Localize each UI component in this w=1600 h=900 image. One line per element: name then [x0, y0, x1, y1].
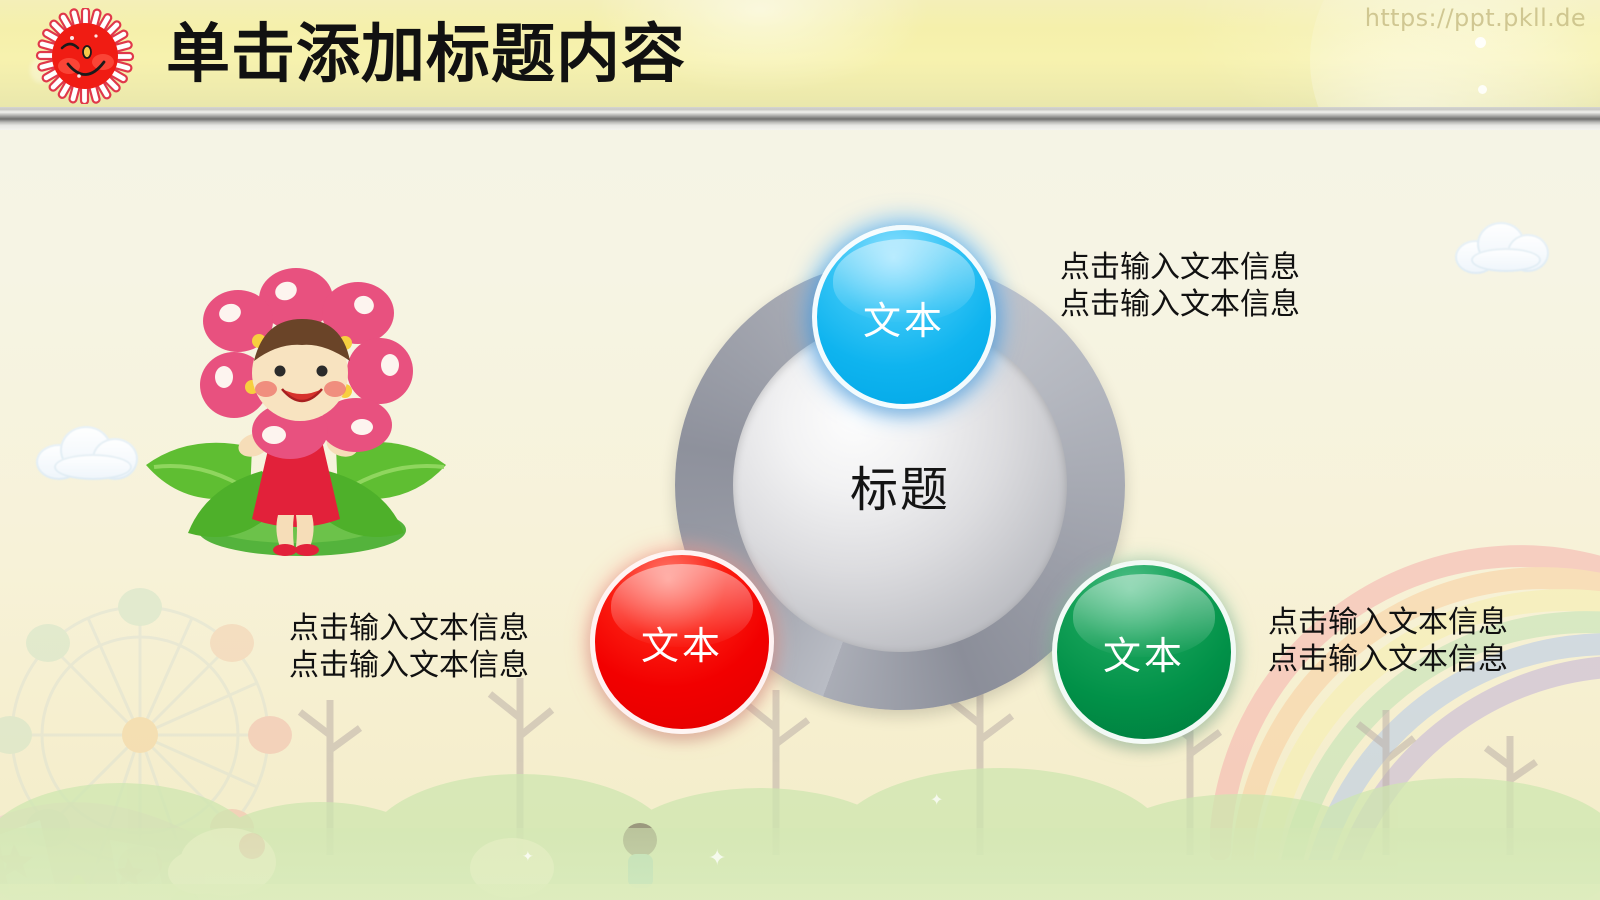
- caption-right-line-2: 点击输入文本信息: [1268, 641, 1508, 678]
- slide-canvas: ✦ ✦ ✦: [0, 0, 1600, 900]
- diagram-center-label: 标题: [733, 450, 1067, 520]
- header-divider: [0, 107, 1600, 130]
- diagram-node-left[interactable]: 文本: [590, 550, 774, 734]
- header-dot-icon: [1475, 37, 1486, 48]
- diagram-node-top[interactable]: 文本: [812, 225, 996, 409]
- sparkle-icon: ✦: [708, 845, 726, 871]
- node-right-label: 文本: [1103, 625, 1185, 680]
- caption-right-line-1: 点击输入文本信息: [1268, 604, 1508, 641]
- caption-top-line-2: 点击输入文本信息: [1060, 286, 1300, 323]
- page-title: 单击添加标题内容: [166, 20, 686, 90]
- slide-header: 单击添加标题内容 https://ppt.pkll.de: [0, 0, 1600, 107]
- caption-left-line-1: 点击输入文本信息: [289, 610, 529, 647]
- diagram-node-right[interactable]: 文本: [1052, 560, 1236, 744]
- cloud-left: [36, 420, 146, 482]
- caption-left[interactable]: 点击输入文本信息 点击输入文本信息: [289, 610, 529, 684]
- header-dot-icon: [1478, 85, 1487, 94]
- flower-girl-illustration: [140, 265, 460, 560]
- caption-left-line-2: 点击输入文本信息: [289, 647, 529, 684]
- sparkle-icon: ✦: [930, 790, 943, 810]
- smiling-sun-icon: [24, 8, 146, 104]
- node-top-label: 文本: [863, 290, 945, 345]
- cloud-right: [1455, 218, 1553, 276]
- caption-right[interactable]: 点击输入文本信息 点击输入文本信息: [1268, 604, 1508, 678]
- ground-strip: [0, 828, 1600, 900]
- watermark-text: https://ppt.pkll.de: [1365, 4, 1586, 32]
- caption-top-line-1: 点击输入文本信息: [1060, 249, 1300, 286]
- caption-top[interactable]: 点击输入文本信息 点击输入文本信息: [1060, 249, 1300, 323]
- node-left-label: 文本: [641, 615, 723, 670]
- sparkle-icon: ✦: [522, 848, 534, 865]
